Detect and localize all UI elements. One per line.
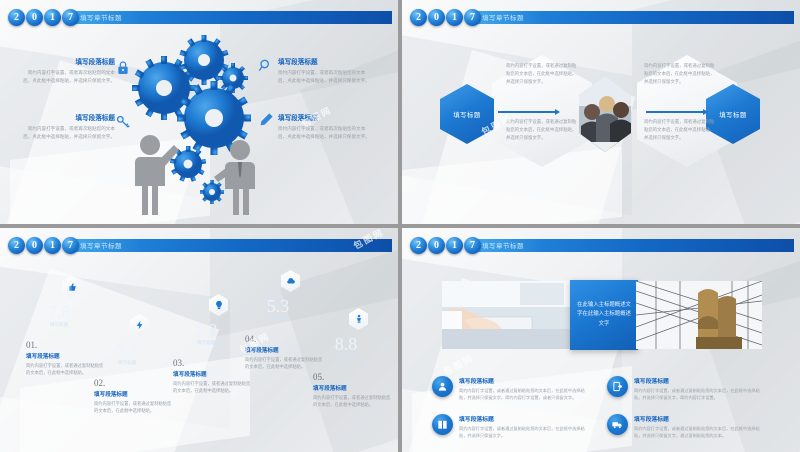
item-body: 简约内容打字设置，或者通过复制粘贴您的文本后，在此框中选择粘贴，并选择只保留文字… xyxy=(634,425,767,440)
caption-title: 填写段落标题 xyxy=(245,346,323,354)
slide-header: 2 0 1 7 填写章节标题 xyxy=(410,237,794,253)
slide1-item-2[interactable]: 填写段落标题 简约内容打字设置，或者再次粘贴您的文本后，点此框中选择粘贴，并选择… xyxy=(20,112,115,141)
key-icon xyxy=(115,114,133,132)
flow-arrow-left xyxy=(498,111,556,113)
item-body: 简约内容打字设置，或者再次粘贴您的文本后，点此框中选择粘贴，并选择只保留文字。 xyxy=(20,69,115,85)
header-bar: 填写章节标题 xyxy=(472,11,794,24)
item-body: 简约内容打字设置，或者再次粘贴您的文本后，点此框中选择粘贴，并选择只保留文字。 xyxy=(20,125,115,141)
year-badge: 2 0 1 7 xyxy=(8,9,79,26)
caption-title: 填写段落标题 xyxy=(26,352,104,360)
year-digit: 0 xyxy=(428,9,445,26)
caption-number: 01. xyxy=(26,340,104,350)
caption-title: 填写段落标题 xyxy=(173,370,251,378)
item-title: 填写段落标题 xyxy=(634,376,767,385)
kpi-value: 1.0 xyxy=(195,321,218,339)
section-title: 填写章节标题 xyxy=(482,12,524,22)
item-body: 简约内容打字设置，或者通过复制粘贴您的文本后，在此框中选择粘贴，并选择只保留文字… xyxy=(459,387,592,402)
kpi-caption-2[interactable]: 02. 填写段落标题 简约内容打字设置，或者通过复制粘贴您的文本后，在此框中选择… xyxy=(94,378,172,415)
section-title: 填写章节标题 xyxy=(482,240,524,250)
slide4-item-3[interactable]: 填写段落标题 简约内容打字设置，或者通过复制粘贴您的文本后，在此框中选择粘贴，并… xyxy=(432,414,592,440)
kpi-caption-4[interactable]: 04. 填写段落标题 简约内容打字设置，或者通过复制粘贴您的文本后，在此框中选择… xyxy=(245,334,323,371)
kpi-sublabel: 填写标题 xyxy=(197,340,215,346)
item-body: 简约内容打字设置，或者再次粘贴您的文本后，点此框中选择粘贴，并选择只保留文字。 xyxy=(278,69,373,85)
year-digit: 7 xyxy=(62,9,79,26)
slide-1-gears[interactable]: 2 0 1 7 填写章节标题 xyxy=(0,0,398,224)
slide2-text-2: 简约内容打字设置，或者通过复制粘贴您的文本后，在此框中选择粘贴，并选择只保留文字… xyxy=(506,118,578,142)
kpi-value: 5.3 xyxy=(267,297,290,315)
gears-people-illustration xyxy=(128,30,278,215)
kpi-caption-1[interactable]: 01. 填写段落标题 简约内容打字设置，或者通过复制粘贴您的文本后，在此框中选择… xyxy=(26,340,104,377)
hands-typing-keyboard-photo xyxy=(442,281,572,349)
year-digit: 1 xyxy=(446,9,463,26)
kpi-sublabel: 填写标题 xyxy=(269,316,287,322)
kpi-value: 8.8 xyxy=(335,335,358,353)
year-badge: 2 0 1 7 xyxy=(410,237,481,254)
caption-title: 填写段落标题 xyxy=(94,390,172,398)
slide2-text-1: 简约内容打字设置，或者通过复制粘贴您的文本后，在此框中选择粘贴，并选择只保留文字… xyxy=(506,62,578,86)
year-digit: 7 xyxy=(62,237,79,254)
item-title: 填写段落标题 xyxy=(459,376,592,385)
kpi-sublabel: 填写标题 xyxy=(50,322,68,328)
watermark: 包图网 xyxy=(441,351,476,378)
user-icon xyxy=(432,376,453,397)
caption-number: 05. xyxy=(313,372,391,382)
kpi-sublabel: 填写标题 xyxy=(118,360,136,366)
slide1-item-1[interactable]: 填写段落标题 简约内容打字设置，或者再次粘贴您的文本后，点此框中选择粘贴，并选择… xyxy=(20,56,115,85)
item-title: 填写段落标题 xyxy=(20,56,115,66)
year-digit: 2 xyxy=(8,237,25,254)
kpi-caption-5[interactable]: 05. 填写段落标题 简约内容打字设置，或者通过复制粘贴您的文本后，在此框中选择… xyxy=(313,372,391,409)
slide4-item-1[interactable]: 填写段落标题 简约内容打字设置，或者通过复制粘贴您的文本后，在此框中选择粘贴，并… xyxy=(432,376,592,402)
slide-header: 2 0 1 7 填写章节标题 xyxy=(8,9,392,25)
caption-title: 填写段落标题 xyxy=(313,384,391,392)
caption-number: 04. xyxy=(245,334,323,344)
flow-arrow-right xyxy=(646,111,704,113)
item-title: 填写段落标题 xyxy=(459,414,592,423)
slide4-item-2[interactable]: 填写段落标题 简约内容打字设置，或者通过复制粘贴您的文本后，在此框中选择粘贴，并… xyxy=(607,376,767,402)
year-digit: 0 xyxy=(26,9,43,26)
year-digit: 2 xyxy=(410,9,427,26)
caption-body: 简约内容打字设置，或者通过复制粘贴您的文本后，在此框中选择粘贴。 xyxy=(26,362,104,377)
slide1-item-4[interactable]: 填写段落标题 简约内容打字设置，或者再次粘贴您的文本后，点此框中选择粘贴，并选择… xyxy=(278,112,373,141)
caption-body: 简约内容打字设置，或者通过复制粘贴您的文本后，在此框中选择粘贴。 xyxy=(173,380,251,395)
item-body: 简约内容打字设置，或者通过复制粘贴您的文本后，在此框中选择粘贴，并选择只保留文字… xyxy=(634,387,767,402)
slide-3-kpi-hexagons[interactable]: 2 0 1 7 填写章节标题 7.8 填写标题 01. 填写段落标题 简约内容打… xyxy=(0,228,398,452)
header-bar: 填写章节标题 xyxy=(472,239,794,252)
truck-icon xyxy=(607,414,628,435)
item-title: 填写段落标题 xyxy=(20,112,115,122)
section-title: 填写章节标题 xyxy=(80,240,122,250)
slide-thumbnail-grid: 2 0 1 7 填写章节标题 xyxy=(0,0,800,452)
item-title: 填写段落标题 xyxy=(634,414,767,423)
year-digit: 1 xyxy=(44,237,61,254)
pencil-icon xyxy=(258,112,276,130)
search-icon xyxy=(258,58,276,76)
section-title: 填写章节标题 xyxy=(80,12,122,22)
slide1-item-3[interactable]: 填写段落标题 简约内容打字设置，或者再次粘贴您的文本后，点此框中选择粘贴，并选择… xyxy=(278,56,373,85)
slide2-text-3: 简约内容打字设置，或者通过复制粘贴您的文本后，在此框中选择粘贴，并选择只保留文字… xyxy=(644,62,716,86)
slide-header: 2 0 1 7 填写章节标题 xyxy=(410,9,794,25)
blue-hexagon-left[interactable]: 填写标题 xyxy=(440,84,494,144)
year-digit: 7 xyxy=(464,9,481,26)
slide4-item-4[interactable]: 填写段落标题 简约内容打字设置，或者通过复制粘贴您的文本后，在此框中选择粘贴，并… xyxy=(607,414,767,440)
year-digit: 0 xyxy=(26,237,43,254)
item-body: 简约内容打字设置，或者再次粘贴您的文本后，点此框中选择粘贴，并选择只保留文字。 xyxy=(278,125,373,141)
year-digit: 1 xyxy=(446,237,463,254)
item-title: 填写段落标题 xyxy=(278,56,373,66)
brooklyn-bridge-cables-photo xyxy=(636,281,762,349)
main-title-box[interactable]: 在此输入主标题概述文字在此输入主标题概述文字 xyxy=(570,280,638,350)
slide-2-hexagon-flow[interactable]: 2 0 1 7 填写章节标题 填写标题 填写标题 xyxy=(402,0,800,224)
export-doc-icon xyxy=(607,376,628,397)
slide-4-photos-and-items[interactable]: 2 0 1 7 填写章节标题 在此输入主标 xyxy=(402,228,800,452)
header-bar: 填写章节标题 xyxy=(70,239,392,252)
caption-body: 简约内容打字设置，或者通过复制粘贴您的文本后，在此框中选择粘贴。 xyxy=(313,394,391,409)
year-digit: 1 xyxy=(44,9,61,26)
caption-number: 02. xyxy=(94,378,172,388)
year-digit: 2 xyxy=(410,237,427,254)
book-icon xyxy=(432,414,453,435)
hexagon-label: 填写标题 xyxy=(719,110,747,119)
kpi-caption-3[interactable]: 03. 填写段落标题 简约内容打字设置，或者通过复制粘贴您的文本后，在此框中选择… xyxy=(173,358,251,395)
item-title: 填写段落标题 xyxy=(278,112,373,122)
lock-icon xyxy=(115,60,133,78)
kpi-value: 3.2 xyxy=(116,341,139,359)
year-badge: 2 0 1 7 xyxy=(410,9,481,26)
slide2-text-4: 简约内容打字设置，或者通过复制粘贴您的文本后，在此框中选择粘贴，并选择只保留文字… xyxy=(644,118,716,142)
item-body: 简约内容打字设置，或者通过复制粘贴您的文本后，在此框中选择粘贴，并选择只保留文字… xyxy=(459,425,592,440)
caption-number: 03. xyxy=(173,358,251,368)
year-digit: 0 xyxy=(428,237,445,254)
year-badge: 2 0 1 7 xyxy=(8,237,79,254)
kpi-value: 7.8 xyxy=(48,303,71,321)
year-digit: 2 xyxy=(8,9,25,26)
caption-body: 简约内容打字设置，或者通过复制粘贴您的文本后，在此框中选择粘贴。 xyxy=(245,356,323,371)
kpi-sublabel: 填写标题 xyxy=(337,354,355,360)
hexagon-label: 填写标题 xyxy=(453,110,481,119)
year-digit: 7 xyxy=(464,237,481,254)
caption-body: 简约内容打字设置，或者通过复制粘贴您的文本后，在此框中选择粘贴。 xyxy=(94,400,172,415)
header-bar: 填写章节标题 xyxy=(70,11,392,24)
slide-header: 2 0 1 7 填写章节标题 xyxy=(8,237,392,253)
